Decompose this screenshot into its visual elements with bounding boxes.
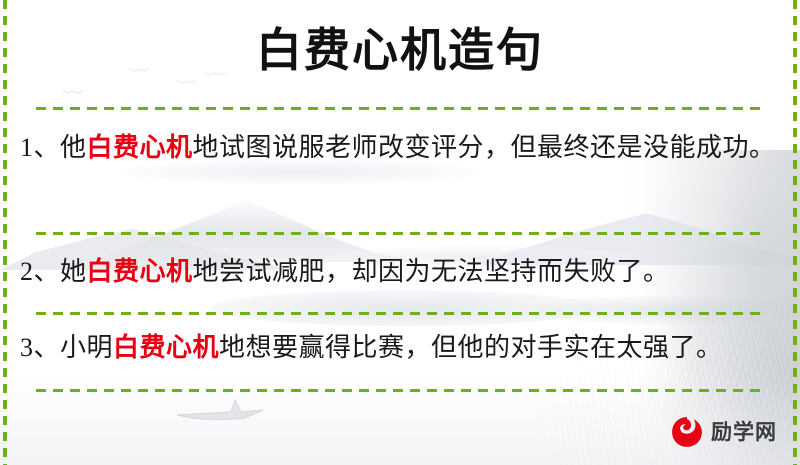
sentence-2-before: 她	[60, 257, 87, 286]
red-swirl-phoenix-icon	[670, 415, 704, 449]
sentence-1-before: 他	[60, 133, 87, 162]
sentence-1-idiom: 白费心机	[87, 133, 193, 162]
sentence-2-after: 地尝试减肥，却因为无法坚持而失败了。	[193, 257, 670, 286]
sentence-item-2: 2、她白费心机地尝试减肥，却因为无法坚持而失败了。	[20, 250, 782, 293]
sentence-3-idiom: 白费心机	[113, 333, 219, 362]
divider-1	[36, 107, 764, 110]
sentence-1-after: 地试图说服老师改变评分，但最终还是没能成功。	[193, 133, 776, 162]
sentence-2-index: 2、	[20, 257, 60, 286]
sentence-2-idiom: 白费心机	[87, 257, 193, 286]
poster-content: 白费心机造句 1、他白费心机地试图说服老师改变评分，但最终还是没能成功。 2、她…	[0, 0, 800, 465]
site-logo: 励学网	[670, 415, 777, 449]
poster-page: 白费心机造句 1、他白费心机地试图说服老师改变评分，但最终还是没能成功。 2、她…	[0, 0, 800, 465]
page-title: 白费心机造句	[0, 22, 800, 80]
sentence-item-3: 3、小明白费心机地想要赢得比赛，但他的对手实在太强了。	[20, 326, 782, 369]
site-logo-text: 励学网	[711, 422, 777, 443]
sentence-3-index: 3、	[20, 333, 60, 362]
sentence-3-after: 地想要赢得比赛，但他的对手实在太强了。	[219, 333, 723, 362]
divider-4	[36, 389, 764, 392]
sentence-item-1: 1、他白费心机地试图说服老师改变评分，但最终还是没能成功。	[20, 126, 782, 169]
divider-2	[36, 232, 764, 235]
sentence-3-before: 小明	[60, 333, 113, 362]
divider-3	[36, 312, 764, 315]
sentence-1-index: 1、	[20, 133, 60, 162]
